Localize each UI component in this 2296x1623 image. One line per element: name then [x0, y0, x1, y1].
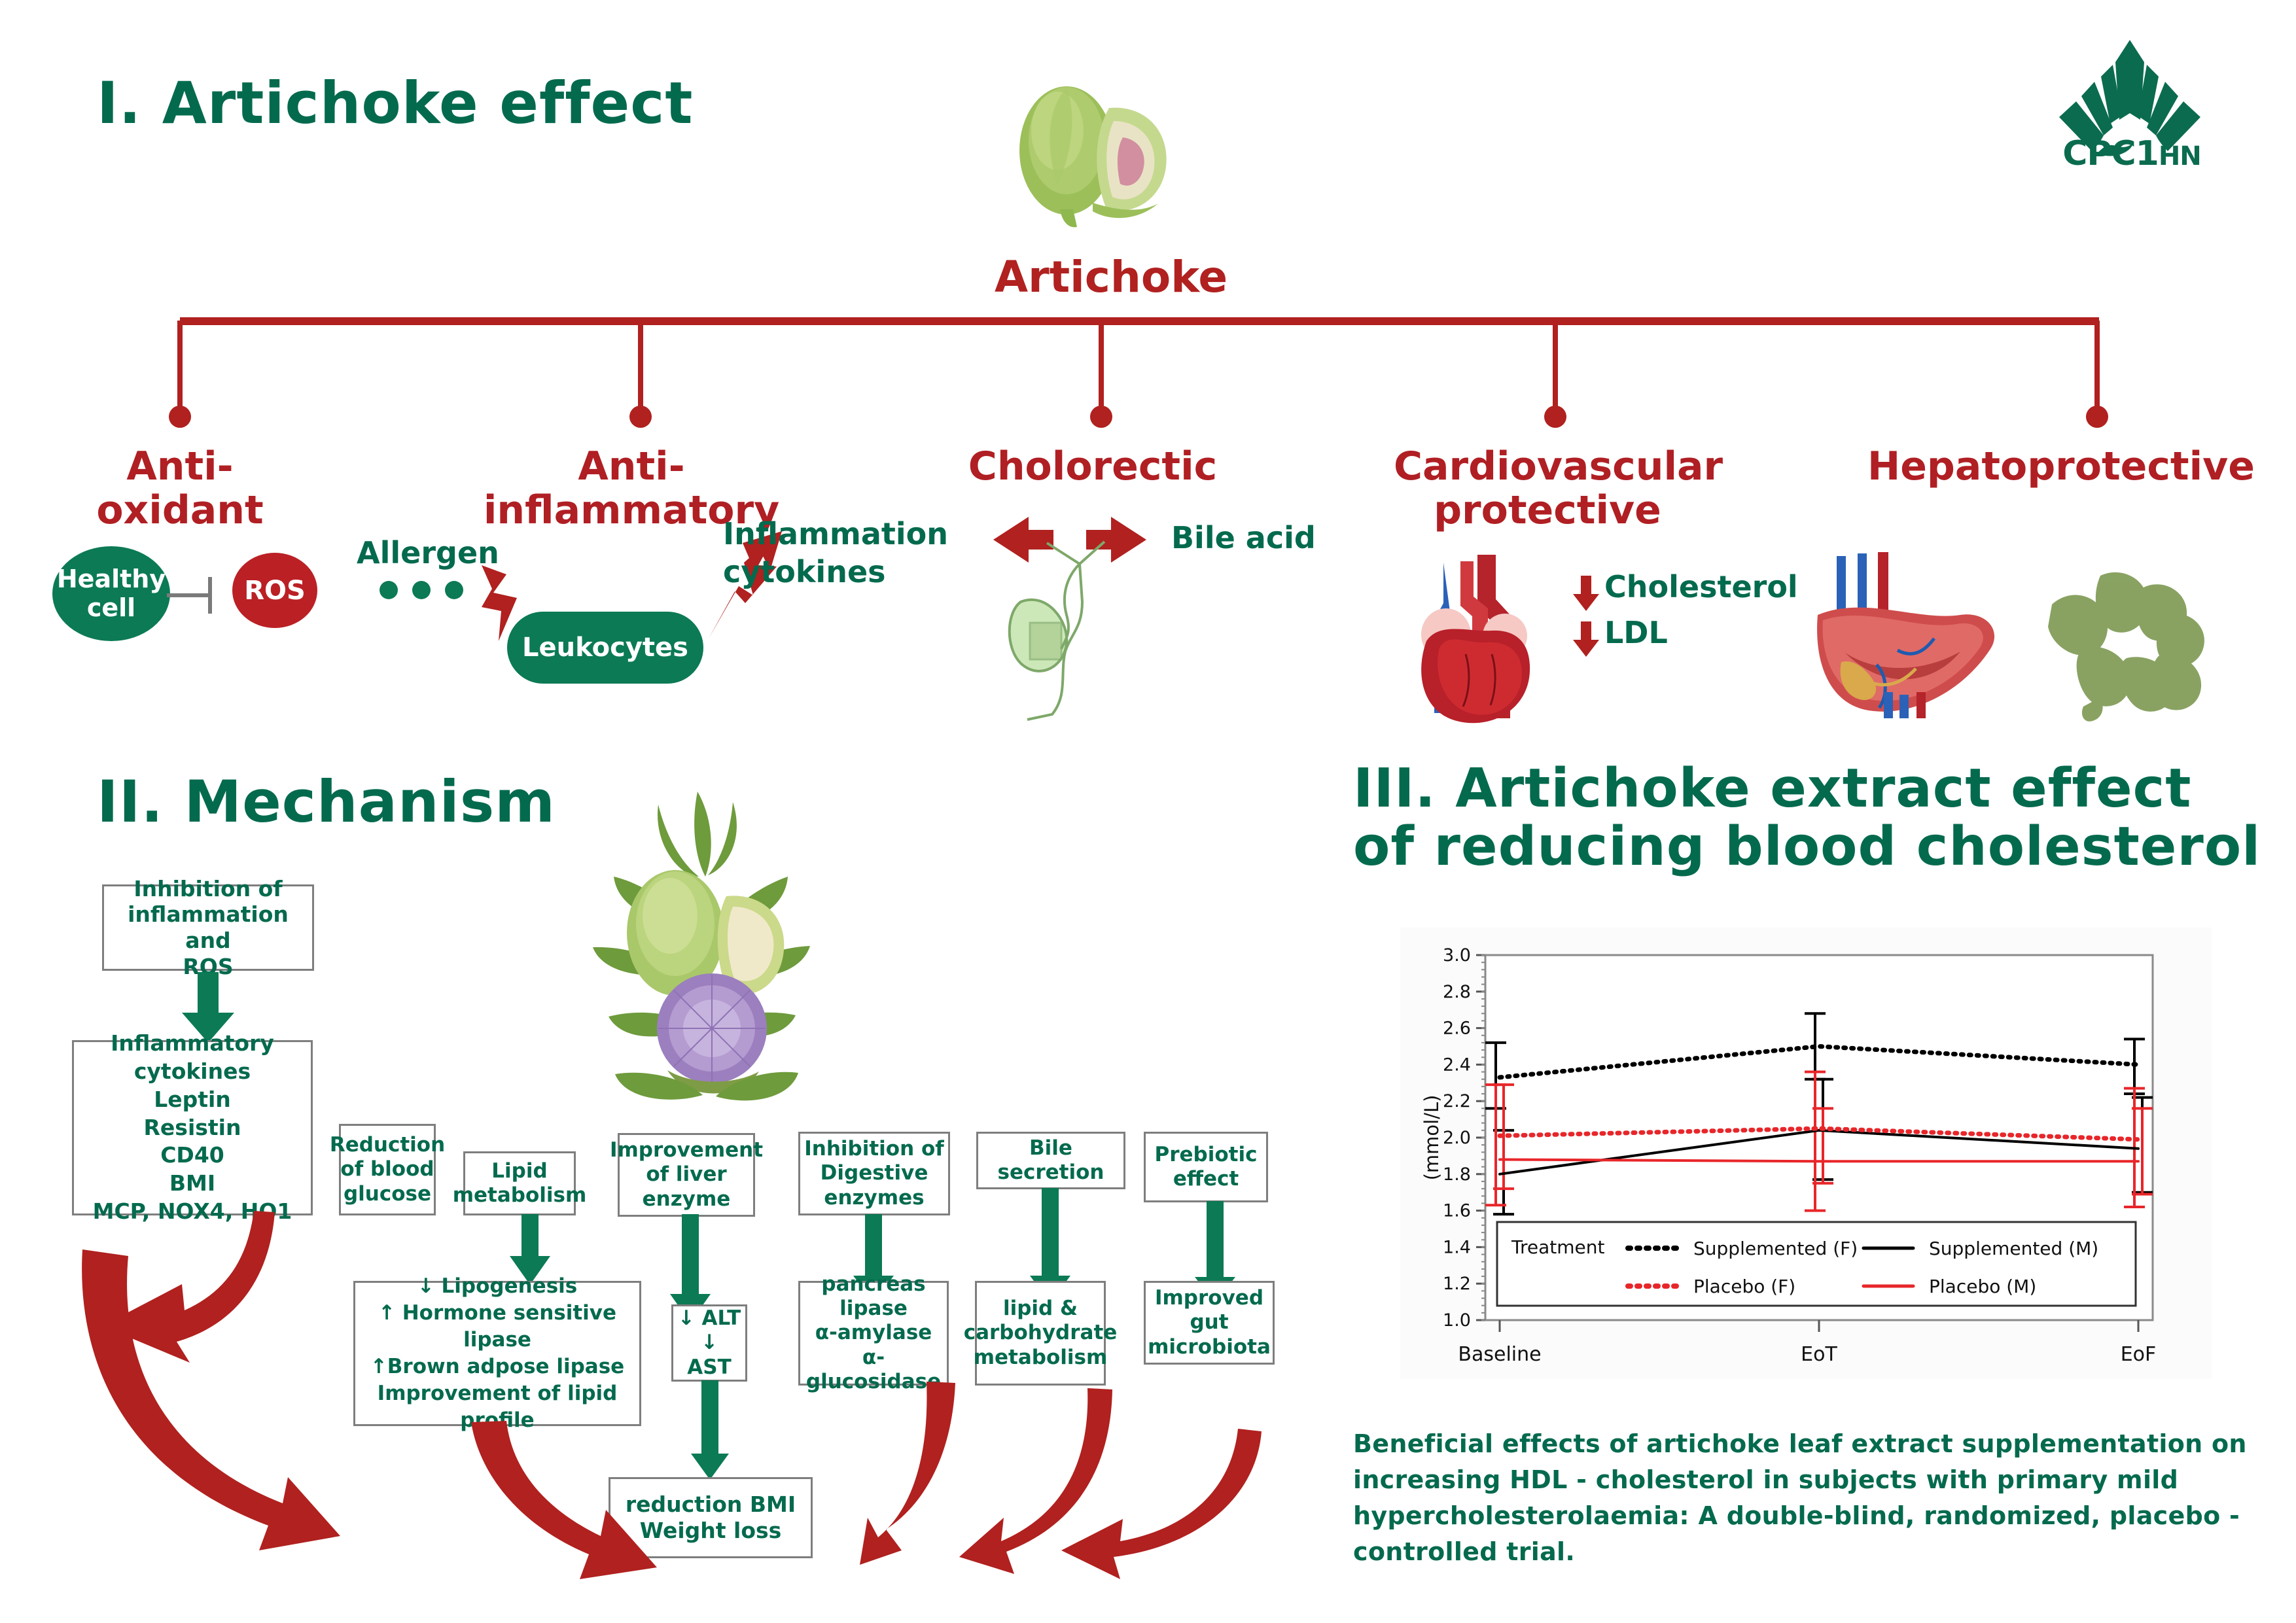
- chart-legend: [1497, 1222, 2136, 1306]
- legend-label: Supplemented (M): [1929, 1238, 2098, 1259]
- healthy-cell-node: Healthy cell: [52, 546, 170, 641]
- box-alt-ast: ↓ ALT ↓ AST: [671, 1304, 747, 1382]
- section-three-title-line2: of reducing blood cholesterol: [1353, 818, 2269, 877]
- study-caption: Beneficial effects of artichoke leaf ext…: [1353, 1426, 2263, 1570]
- category-cholorectic: Cholorectic: [949, 445, 1237, 489]
- dried-artichoke-leaf-image: [2022, 550, 2238, 726]
- tree-dot-1: [169, 406, 191, 428]
- legend-label: Supplemented (F): [1693, 1238, 1858, 1259]
- gallbladder-image: [1001, 523, 1171, 726]
- y-tick-label: 1.8: [1443, 1164, 1471, 1185]
- legend-title: Treatment: [1511, 1236, 1604, 1258]
- box-inhibition-digestive-enzymes: Inhibition of Digestive enzymes: [798, 1132, 950, 1215]
- artichoke-image: [995, 69, 1191, 232]
- y-tick-label: 1.4: [1443, 1237, 1471, 1257]
- x-tick-label: EoF: [2121, 1343, 2157, 1366]
- tree-dot-2: [629, 406, 652, 428]
- ldl-label: LDL: [1604, 615, 1668, 650]
- liver-anatomy-image: [1806, 543, 2015, 726]
- y-tick-label: 1.2: [1443, 1274, 1471, 1294]
- leukocytes-node: Leukocytes: [507, 612, 703, 684]
- tree-dot-4: [1544, 406, 1566, 428]
- y-tick-label: 1.0: [1443, 1310, 1471, 1331]
- section-three-title: III. Artichoke extract effect of reducin…: [1353, 760, 2269, 876]
- x-tick-label: Baseline: [1458, 1343, 1541, 1366]
- cholesterol-chart: 3.02.82.62.42.22.01.81.61.41.21.0Baselin…: [1400, 928, 2212, 1379]
- category-hepatoprotective: Hepatoprotective: [1832, 445, 2290, 489]
- logo-cpc: CPC: [2062, 134, 2135, 173]
- red-curved-arrow-to-bmi-5-icon: [995, 1426, 1309, 1583]
- category-anti-oxidant: Anti-oxidant: [49, 445, 311, 532]
- y-tick-label: 2.2: [1443, 1091, 1471, 1111]
- allergen-dot-1: [380, 581, 398, 599]
- y-axis-title: (mmol/L): [1421, 1095, 1443, 1181]
- inhibition-connector-icon: [167, 576, 226, 615]
- y-tick-label: 2.8: [1443, 982, 1471, 1002]
- y-tick-label: 2.4: [1443, 1055, 1471, 1075]
- allergen-dot-3: [445, 581, 463, 599]
- box-lipid-metabolism: Lipid metabolism: [463, 1151, 576, 1215]
- tree-root-label: Artichoke: [995, 252, 1191, 302]
- box-improvement-liver-enzyme: Improvement of liver enzyme: [618, 1133, 755, 1217]
- box-lipid-carb-metabolism: lipid & carbohydrate metabolism: [975, 1281, 1106, 1386]
- chart-svg: 3.02.82.62.42.22.01.81.61.41.21.0Baselin…: [1400, 928, 2212, 1379]
- section-two-title: II. Mechanism: [97, 771, 556, 833]
- section-one-title: I. Artichoke effect: [97, 72, 693, 134]
- tree-dot-3: [1090, 406, 1112, 428]
- ros-node: ROS: [232, 553, 317, 628]
- y-tick-label: 2.0: [1443, 1128, 1471, 1148]
- inflammation-cytokines-label: Inflammation cytokines: [723, 515, 948, 591]
- box-prebiotic-effect: Prebiotic effect: [1144, 1132, 1268, 1202]
- logo-hn: HN: [2159, 141, 2201, 171]
- x-tick-label: EoT: [1801, 1343, 1837, 1366]
- y-tick-label: 3.0: [1443, 945, 1471, 966]
- tree-horizontal-bar: [180, 317, 2099, 325]
- category-cardiovascular-protective: Cardiovascular protective: [1394, 445, 1701, 532]
- box-inflammatory-cytokines: Inflammatory cytokines Leptin Resistin C…: [72, 1040, 313, 1215]
- allergen-dot-2: [412, 581, 431, 599]
- box-improved-gut-microbiota: Improved gut microbiota: [1144, 1281, 1275, 1365]
- bile-acid-label: Bile acid: [1171, 520, 1316, 555]
- y-tick-label: 2.6: [1443, 1019, 1471, 1039]
- box-pancreas-lipase: pancreas lipase α-amylase α-glucosidase: [798, 1281, 949, 1386]
- legend-label: Placebo (M): [1929, 1276, 2036, 1297]
- red-curved-arrow-to-bmi-2-icon: [366, 1420, 694, 1590]
- legend-label: Placebo (F): [1693, 1276, 1795, 1297]
- logo-one: 1: [2136, 134, 2159, 173]
- artichoke-thistle-image: [537, 778, 877, 1145]
- tree-dot-5: [2086, 406, 2108, 428]
- down-arrow-cholesterol-icon: [1570, 574, 1602, 612]
- box-bile-secretion: Bile secretion: [976, 1132, 1125, 1189]
- y-tick-label: 1.6: [1443, 1201, 1471, 1221]
- heart-anatomy-image: [1400, 543, 1557, 726]
- section-three-title-line1: III. Artichoke extract effect: [1353, 760, 2269, 818]
- down-arrow-ldl-icon: [1570, 620, 1602, 658]
- box-inhibition-inflammation: Inhibition of inflammation and ROS: [102, 884, 314, 971]
- box-reduction-blood-glucose: Reduction of blood glucose: [339, 1124, 436, 1215]
- green-arrow-down-7-icon: [688, 1380, 732, 1482]
- logo-wordmark: CPC1HN: [2040, 134, 2223, 173]
- cholesterol-label: Cholesterol: [1604, 569, 1798, 604]
